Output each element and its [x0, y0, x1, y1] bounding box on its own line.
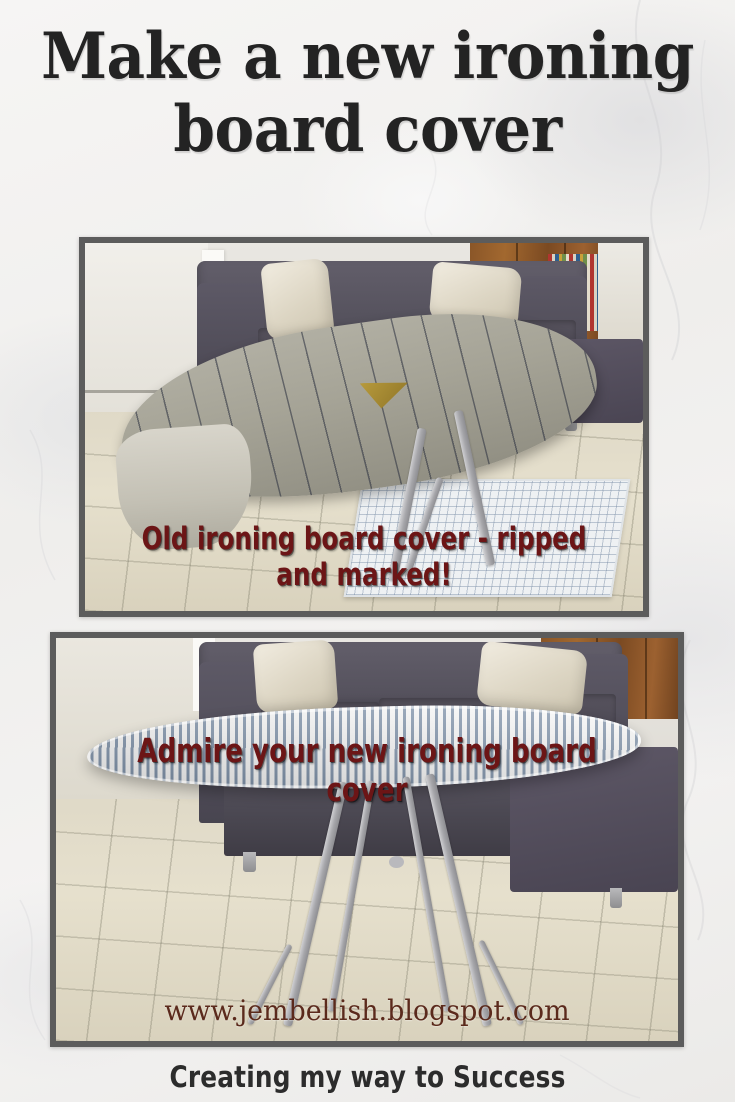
cushion-left [253, 639, 338, 713]
new-photo-caption: Admire your new ironing board cover [93, 731, 640, 809]
old-photo-caption: Old ironing board cover - ripped and mar… [118, 521, 609, 593]
cabinet-seam [645, 638, 647, 719]
pin-canvas: Make a new ironing board cover [0, 0, 735, 1102]
blog-url: www.jembellish.blogspot.com [68, 994, 665, 1027]
ironing-board-leg-pivot [389, 856, 404, 868]
old-photo-scene: Old ironing board cover - ripped and mar… [85, 243, 643, 611]
pin-title-line-1: Make a new ironing [26, 20, 710, 93]
footer-tagline: Creating my way to Success [18, 1060, 716, 1094]
new-photo-scene: Admire your new ironing board cover www.… [56, 638, 678, 1041]
new-ironing-board-photo[interactable]: Admire your new ironing board cover www.… [50, 632, 684, 1047]
cover-rip [360, 376, 411, 411]
pin-title-line-2: board cover [26, 93, 710, 166]
pin-title: Make a new ironing board cover [0, 20, 735, 166]
old-ironing-board-photo[interactable]: Old ironing board cover - ripped and mar… [79, 237, 649, 617]
sofa-leg-left [243, 852, 257, 872]
chaise-leg [610, 888, 622, 908]
